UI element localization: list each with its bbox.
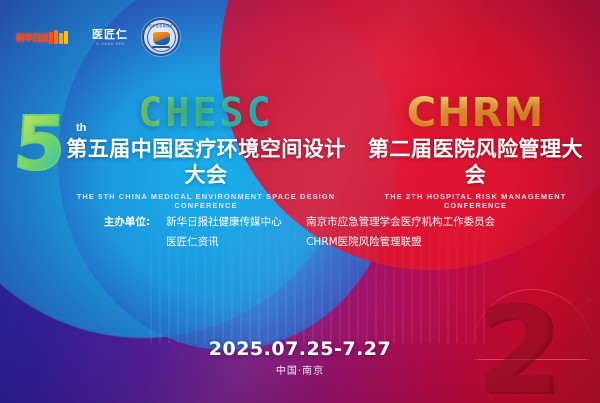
left-conference-block: CHESC 第五届中国医疗环境空间设计大会 THE 5TH CHINA MEDI… xyxy=(60,92,352,210)
decorative-number-two-suffix: th xyxy=(585,297,592,304)
organizers-column-one: 新华日报社健康传媒中心 医匠仁资讯 xyxy=(166,212,306,252)
event-city: 中国·南京 xyxy=(0,362,600,377)
organizers-section: 主办单位: 新华日报社健康传媒中心 医匠仁资讯 南京市应急管理学会医疗机构工作委… xyxy=(0,212,600,252)
yijiangren-logo-en: YI JIANG REN xyxy=(92,42,128,46)
chrm-chinese-title: 第二届医院风险管理大会 xyxy=(358,136,593,188)
yijiangren-logo-cn: 医匠仁 xyxy=(92,29,128,41)
circular-emblem-logo: 南京市应急管理学会 xyxy=(142,18,180,56)
right-conference-block: CHRM 第二届医院风险管理大会 THE 2TH HOSPITAL RISK M… xyxy=(358,92,593,210)
organizers-column-two: 南京市应急管理学会医疗机构工作委员会 CHRM医院风险管理联盟 xyxy=(306,212,496,252)
emblem-base xyxy=(152,46,170,48)
organizers-inner: 主办单位: 新华日报社健康传媒中心 医匠仁资讯 南京市应急管理学会医疗机构工作委… xyxy=(104,212,496,252)
organizer-item: 新华日报社健康传媒中心 xyxy=(166,212,306,232)
xinhua-daily-health-logo-bars xyxy=(49,30,68,44)
organizers-label: 主办单位: xyxy=(104,212,150,232)
chesc-chinese-title: 第五届中国医疗环境空间设计大会 xyxy=(60,136,352,188)
logo-row: 新华日报 医匠仁 YI JIANG REN 南京市应急管理学会 xyxy=(16,18,180,56)
xinhua-daily-health-logo: 新华日报 xyxy=(16,27,78,47)
organizer-item: 医匠仁资讯 xyxy=(166,232,306,252)
chesc-acronym: CHESC xyxy=(60,92,352,134)
chesc-english-title: THE 5TH CHINA MEDICAL ENVIRONMENT SPACE … xyxy=(60,192,352,210)
event-date: 2025.07.25-7.27 xyxy=(0,338,600,360)
chrm-acronym: CHRM xyxy=(358,92,593,134)
xinhua-daily-health-logo-text: 新华日报 xyxy=(16,31,48,44)
yijiangren-logo: 医匠仁 YI JIANG REN xyxy=(92,29,128,46)
organizer-item: 南京市应急管理学会医疗机构工作委员会 xyxy=(306,212,496,232)
organizer-item: CHRM医院风险管理联盟 xyxy=(306,232,496,252)
emblem-arc-text: 南京市应急管理学会 xyxy=(144,23,178,28)
conference-poster: 新华日报 医匠仁 YI JIANG REN 南京市应急管理学会 5 th CHE… xyxy=(0,0,600,403)
chrm-english-title: THE 2TH HOSPITAL RISK MANAGEMENT CONFERE… xyxy=(358,192,593,210)
